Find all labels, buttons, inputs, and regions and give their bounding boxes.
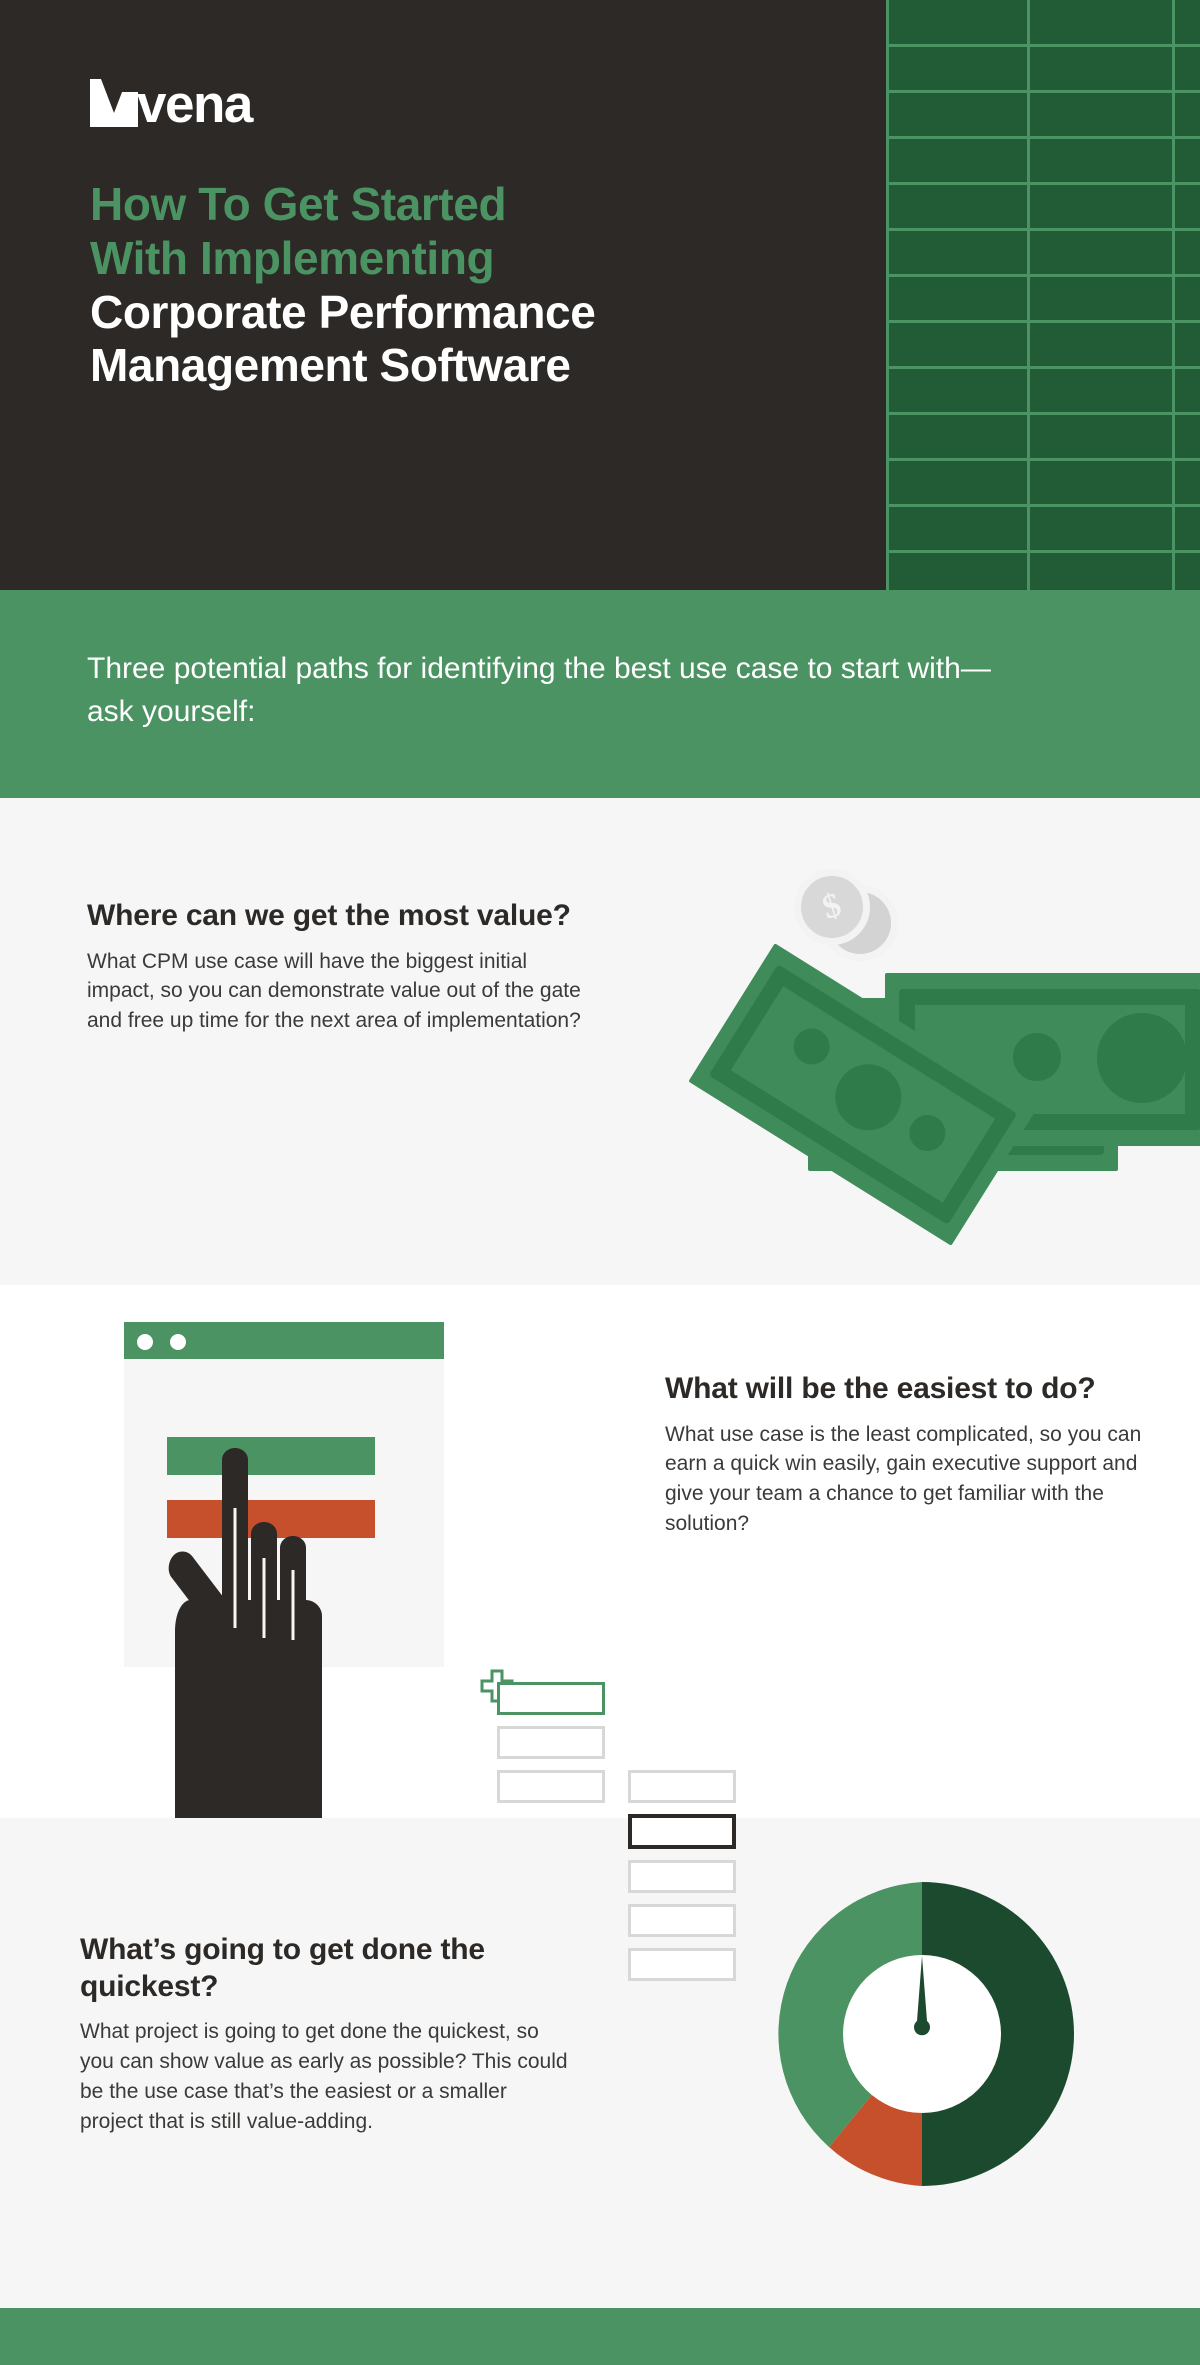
headline-accent-line-1: How To Get Started — [90, 178, 870, 232]
spreadsheet-cell-active-dark[interactable] — [628, 1814, 736, 1849]
vena-logo[interactable]: vena — [90, 78, 252, 128]
section-1-title: Where can we get the most value? — [87, 898, 597, 935]
vena-logo-mark-icon — [90, 79, 138, 127]
section-2-title: What will be the easiest to do? — [665, 1371, 1145, 1408]
headline-accent-line-2: With Implementing — [90, 232, 870, 286]
spreadsheet-cell[interactable] — [628, 1770, 736, 1803]
spreadsheet-cell[interactable] — [628, 1860, 736, 1893]
footer-band — [0, 2308, 1200, 2365]
browser-dot-icon-1 — [137, 1334, 153, 1350]
dollar-sign-icon: $ — [797, 881, 866, 932]
subtitle-text: Three potential paths for identifying th… — [87, 648, 1007, 733]
section-1-body: What CPM use case will have the biggest … — [87, 947, 597, 1036]
money-illustration: $ — [690, 843, 1200, 1223]
donut-gauge-chart — [762, 1874, 1082, 2194]
spreadsheet-cell[interactable] — [628, 1948, 736, 1981]
browser-dot-icon-2 — [170, 1334, 186, 1350]
spreadsheet-cell-active-green[interactable] — [497, 1682, 605, 1715]
spreadsheet-cell[interactable] — [497, 1726, 605, 1759]
spreadsheet-cell[interactable] — [497, 1770, 605, 1803]
decorative-grid-panel — [886, 0, 1200, 590]
subtitle-band: Three potential paths for identifying th… — [0, 590, 1200, 798]
infographic-page: vena How To Get Started With Implementin… — [0, 0, 1200, 2365]
pointing-hand-icon — [165, 1448, 335, 1818]
spreadsheet-cell[interactable] — [628, 1904, 736, 1937]
coin-front-icon: $ — [794, 869, 870, 945]
headline-plain-line-1: Corporate Performance — [90, 286, 870, 340]
section-2-body: What use case is the least complicated, … — [665, 1420, 1145, 1539]
section-most-value: Where can we get the most value? What CP… — [0, 798, 1200, 1285]
headline-plain-line-2: Management Software — [90, 339, 870, 393]
section-2-text-block: What will be the easiest to do? What use… — [665, 1371, 1145, 1539]
browser-title-bar — [124, 1322, 444, 1359]
spreadsheet-cells-illustration — [480, 1669, 740, 2089]
vena-logo-wordmark: vena — [137, 78, 252, 131]
page-title: How To Get Started With Implementing Cor… — [90, 178, 870, 393]
section-1-text-block: Where can we get the most value? What CP… — [87, 898, 597, 1036]
header: vena How To Get Started With Implementin… — [0, 0, 1200, 590]
browser-hand-illustration — [124, 1322, 454, 1818]
